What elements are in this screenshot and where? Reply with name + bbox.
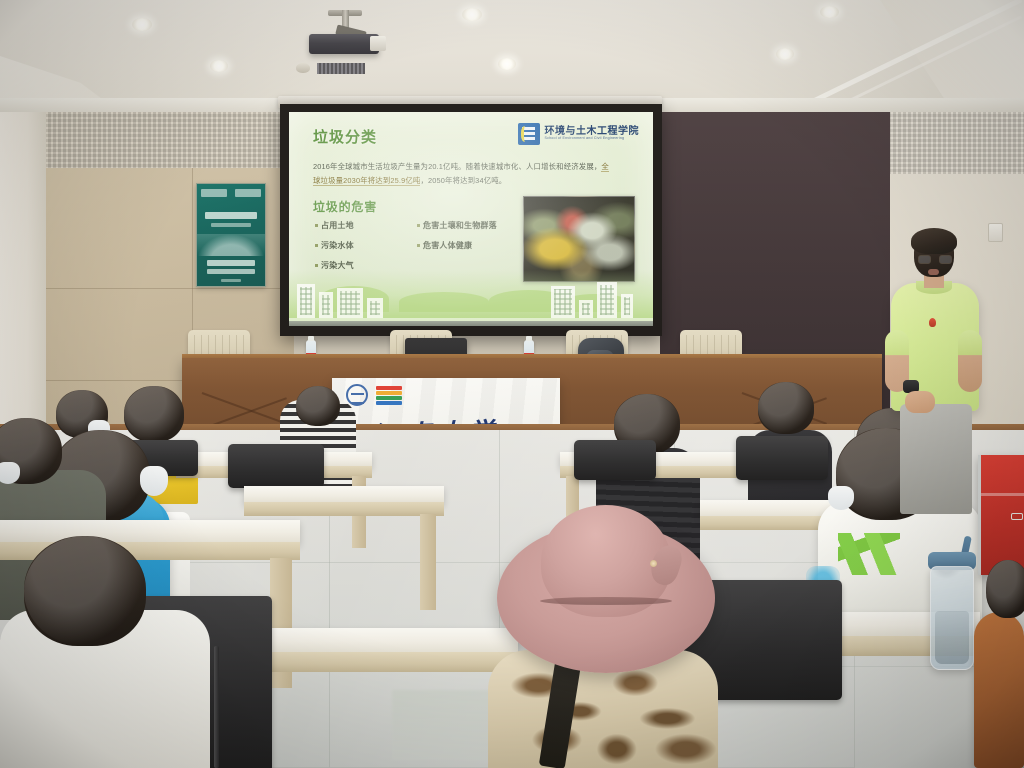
toolbox-seam — [981, 493, 1024, 496]
presenter-mouth — [928, 269, 939, 275]
hat-pin-icon — [650, 560, 657, 567]
hill-shape — [399, 292, 489, 312]
bullet-square-icon — [417, 244, 420, 247]
downlight — [820, 6, 839, 18]
panel-seam — [46, 288, 294, 289]
banner-flag-icon — [376, 386, 402, 405]
wall-poster — [196, 183, 266, 287]
slide-subtitle: 垃圾的危害 — [313, 198, 377, 215]
hair-highlight — [296, 386, 340, 426]
head — [758, 382, 814, 434]
building-shape — [337, 288, 363, 318]
poster-body-line — [207, 260, 255, 266]
poster-logos — [201, 189, 261, 198]
presenter-hands — [905, 391, 935, 413]
head — [124, 386, 184, 442]
school-logo-text: 环境与土木工程学院 School of Environment and Civi… — [545, 127, 640, 141]
student-desk-edge — [244, 502, 444, 516]
presenter-hair — [911, 228, 957, 254]
bullet-label: 污染水体 — [321, 240, 354, 251]
projector-body — [309, 34, 379, 54]
glasses-icon — [918, 255, 952, 264]
bullet-square-icon — [417, 224, 420, 227]
tee-green-graphic — [838, 533, 900, 575]
downlight — [498, 58, 516, 70]
presentation-slide: 垃圾分类 环境与土木工程学院 School of Environment and… — [289, 112, 653, 326]
bullet-square-icon — [315, 264, 318, 267]
blue-sports-bottle[interactable] — [930, 566, 974, 670]
student-desk — [268, 628, 518, 654]
building-shape — [297, 284, 315, 318]
projector-lens — [370, 36, 386, 51]
hair-highlight — [986, 560, 1024, 618]
bullet-item: 占用土地 — [315, 220, 395, 231]
bullet-row: 污染水体 危害人体健康 — [315, 240, 505, 251]
bullet-label: 危害土壤和生物群落 — [423, 220, 497, 231]
bottle-water-level — [935, 611, 969, 664]
presenter-pants — [900, 404, 972, 514]
bullet-row: 占用土地 危害土壤和生物群落 — [315, 220, 505, 231]
desk-panel-detail — [202, 392, 287, 425]
bullet-item: 污染水体 — [315, 240, 395, 251]
slide-paragraph-part1: 2016年全球城市生活垃圾产生量为20.1亿吨。随着快速城市化、人口增长和经济发… — [313, 162, 601, 171]
red-tool-case — [978, 455, 1024, 575]
downlight — [132, 18, 152, 31]
hair-highlight — [24, 536, 146, 646]
downlight — [776, 48, 794, 60]
bullet-label: 危害人体健康 — [423, 240, 472, 251]
slide-title: 垃圾分类 — [313, 126, 377, 147]
building-shape — [319, 292, 333, 318]
downlight — [210, 60, 228, 72]
hair-highlight — [758, 382, 814, 434]
poster-logo-right — [235, 189, 261, 197]
school-logo-icon — [518, 123, 540, 145]
poster-wave-graphic — [197, 234, 265, 256]
bullet-square-icon — [315, 224, 318, 227]
school-logo: 环境与土木工程学院 School of Environment and Civi… — [518, 123, 640, 145]
desk-leg — [420, 514, 436, 610]
hair-highlight — [124, 386, 184, 442]
slide-city-illustration — [289, 270, 653, 326]
slide-paragraph: 2016年全球城市生活垃圾产生量为20.1亿吨。随着快速城市化、人口增长和经济发… — [313, 160, 613, 189]
poster-headline — [205, 212, 257, 219]
bullet-item: 危害人体健康 — [417, 240, 497, 251]
poster-subline — [211, 223, 251, 227]
bullet-square-icon — [315, 244, 318, 247]
slide-bottom-bar — [289, 321, 653, 326]
poster-logo-left — [201, 189, 227, 197]
bullet-label: 占用土地 — [321, 220, 354, 231]
building-shape — [367, 298, 383, 318]
student-chair[interactable] — [574, 440, 656, 480]
slide-paragraph-part2: ，2050年将达到34亿吨。 — [420, 176, 506, 185]
power-outlet — [988, 223, 1003, 242]
downlight — [462, 8, 482, 21]
school-name-en: School of Environment and Civil Engineer… — [545, 137, 640, 141]
wall-column-left — [0, 112, 46, 442]
poster-footer-line — [221, 279, 241, 282]
lapel-badge-icon — [929, 318, 936, 327]
student-chair[interactable] — [228, 444, 324, 488]
chair-leg — [214, 646, 219, 768]
building-shape — [551, 286, 575, 318]
face-mask — [828, 486, 854, 510]
patterned-top — [974, 612, 1024, 768]
building-shape — [597, 282, 617, 318]
projection-screen: 垃圾分类 环境与土木工程学院 School of Environment and… — [280, 104, 662, 336]
toolbox-latch — [1011, 513, 1023, 520]
bullet-item: 危害土壤和生物群落 — [417, 220, 497, 231]
presenter-arm-right — [958, 330, 982, 392]
smoke-detector-icon — [296, 63, 310, 73]
student-chair[interactable] — [736, 436, 828, 480]
building-shape — [579, 300, 593, 318]
poster-body-line — [207, 269, 255, 274]
head — [24, 536, 146, 646]
lecture-hall-scene: 垃圾分类 环境与土木工程学院 School of Environment and… — [0, 0, 1024, 768]
student-desk — [0, 520, 300, 544]
building-shape — [621, 294, 633, 318]
head — [296, 386, 340, 426]
hat-band — [540, 597, 672, 605]
projector-vents — [317, 63, 365, 74]
student-desk-edge — [268, 652, 518, 672]
face-mask — [140, 466, 168, 496]
ceiling-projector — [306, 10, 382, 54]
university-emblem-icon — [346, 384, 368, 406]
head — [986, 560, 1024, 618]
